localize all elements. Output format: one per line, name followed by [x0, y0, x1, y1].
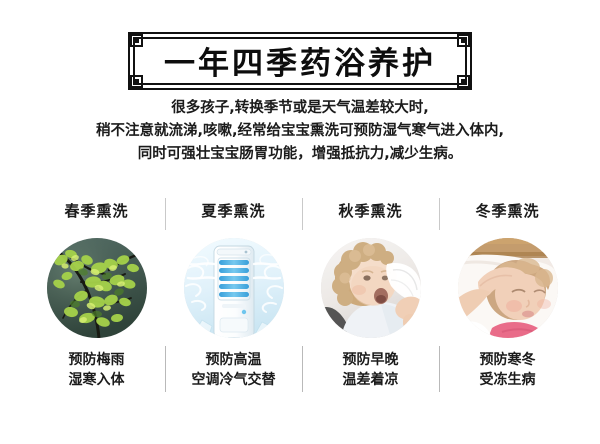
season-title-winter: 冬季熏洗	[475, 194, 539, 230]
season-caption-summer: 预防高温 空调冷气交替	[192, 350, 276, 390]
caption-line-1: 预防高温	[192, 350, 276, 370]
season-caption-autumn: 预防早晚 温差着凉	[343, 350, 399, 390]
spring-green-leaves-photo	[47, 238, 147, 338]
caption-line-2: 空调冷气交替	[192, 370, 276, 390]
season-title-spring: 春季熏洗	[64, 194, 128, 230]
intro-line-2: 稍不注意就流涕,咳嗽,经常给宝宝熏洗可预防湿气寒气进入体内,	[0, 120, 600, 143]
intro-line-3: 同时可强壮宝宝肠胃功能，增强抵抗力,减少生病。	[0, 143, 600, 166]
season-grid: 春季熏洗	[28, 194, 576, 390]
season-column-spring: 春季熏洗	[28, 194, 165, 390]
season-title-summer: 夏季熏洗	[201, 194, 265, 230]
caption-line-2: 湿寒入体	[69, 370, 125, 390]
title-frame: 一年四季药浴养护	[128, 32, 472, 90]
winter-sick-child-in-bed-photo	[458, 238, 558, 338]
caption-line-1: 预防寒冬	[480, 350, 536, 370]
season-column-autumn: 秋季熏洗	[302, 194, 439, 390]
season-title-autumn: 秋季熏洗	[338, 194, 402, 230]
season-caption-spring: 预防梅雨 湿寒入体	[69, 350, 125, 390]
caption-line-2: 温差着凉	[343, 370, 399, 390]
caption-line-1: 预防梅雨	[69, 350, 125, 370]
caption-line-1: 预防早晚	[343, 350, 399, 370]
summer-air-conditioner-photo	[184, 238, 284, 338]
caption-line-2: 受冻生病	[480, 370, 536, 390]
season-caption-winter: 预防寒冬 受冻生病	[480, 350, 536, 390]
intro-line-1: 很多孩子,转换季节或是天气温差较大时,	[0, 97, 600, 120]
autumn-sneezing-baby-photo	[321, 238, 421, 338]
intro-paragraph: 很多孩子,转换季节或是天气温差较大时, 稍不注意就流涕,咳嗽,经常给宝宝熏洗可预…	[0, 97, 600, 166]
season-column-summer: 夏季熏洗	[165, 194, 302, 390]
page-title: 一年四季药浴养护	[128, 32, 472, 90]
season-column-winter: 冬季熏洗	[439, 194, 576, 390]
